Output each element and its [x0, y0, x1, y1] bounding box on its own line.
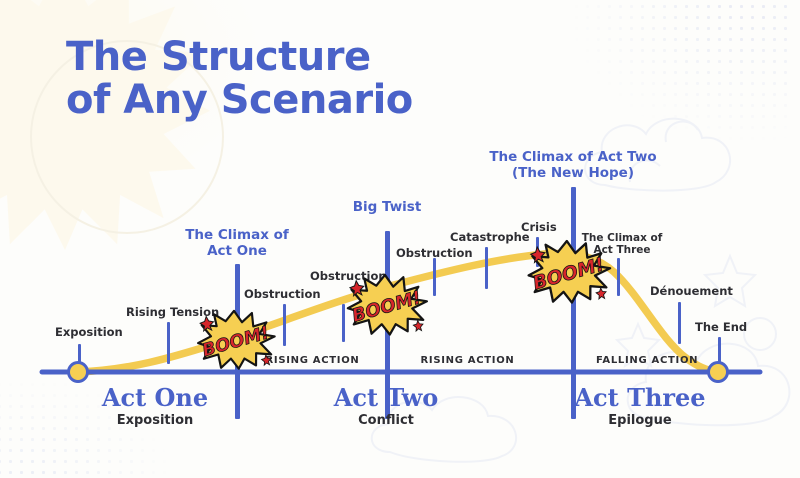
- act-subtitle: Conflict: [306, 413, 466, 430]
- beat-label-catastrophe: Catastrophe: [450, 230, 530, 244]
- act-subtitle: Exposition: [75, 413, 235, 430]
- beat-label-obstruction-3: Obstruction: [396, 246, 473, 260]
- beat-label-exposition: Exposition: [55, 325, 123, 339]
- end-node: [707, 361, 729, 383]
- boom-starburst-icon: BOOM!: [345, 272, 431, 336]
- beat-label-crisis: Crisis: [521, 220, 557, 234]
- act-name: Act One: [75, 386, 235, 410]
- beat-label-denouement: Dénouement: [650, 284, 733, 298]
- beat-tick: [485, 247, 488, 289]
- climax-label-big-twist: Big Twist: [317, 200, 457, 216]
- start-node: [67, 361, 89, 383]
- climax-label-act-two: The Climax of Act Two (The New Hope): [458, 150, 688, 182]
- beat-tick: [678, 302, 681, 344]
- act-subtitle: Epilogue: [560, 413, 720, 430]
- beat-tick: [283, 304, 286, 346]
- act-label-three: Act Three Epilogue: [560, 386, 720, 430]
- phase-label-rising-action-2: RISING ACTION: [420, 355, 515, 366]
- beat-tick: [433, 258, 436, 296]
- beat-label-the-end: The End: [695, 320, 747, 334]
- boom-starburst-icon: BOOM!: [196, 308, 278, 370]
- story-arc-chart: Exposition Rising Tension Obstruction Ob…: [0, 0, 800, 478]
- act-label-two: Act Two Conflict: [306, 386, 466, 430]
- act-name: Act Three: [560, 386, 720, 410]
- beat-tick: [617, 258, 620, 296]
- climax-label-act-one: The Climax of Act One: [167, 228, 307, 260]
- act-name: Act Two: [306, 386, 466, 410]
- infographic-canvas: The Structure of Any Scenario Exposition: [0, 0, 800, 478]
- phase-label-rising-action-1: RISING ACTION: [265, 355, 360, 366]
- boom-starburst-icon: BOOM!: [524, 238, 616, 304]
- beat-tick: [167, 322, 170, 364]
- phase-label-falling-action: FALLING ACTION: [596, 355, 696, 366]
- act-label-one: Act One Exposition: [75, 386, 235, 430]
- beat-label-obstruction-1: Obstruction: [244, 287, 321, 301]
